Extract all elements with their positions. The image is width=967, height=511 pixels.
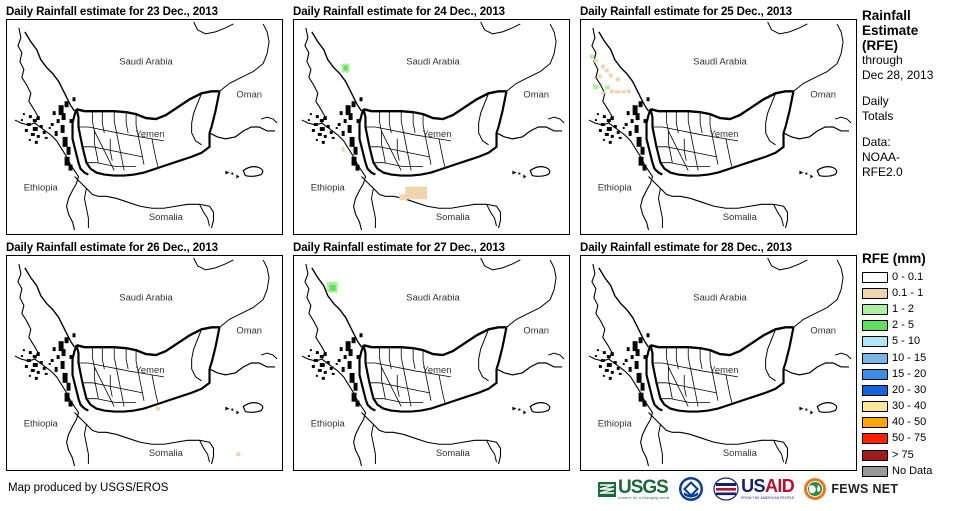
- legend: RFE (mm) 0 - 0.10.1 - 11 - 22 - 55 - 101…: [862, 251, 967, 479]
- panel-5: Daily Rainfall estimate for 27 Dec., 201…: [293, 241, 570, 471]
- legend-swatch: [862, 369, 888, 380]
- legend-swatch: [862, 385, 888, 396]
- title-through-date: Dec 28, 2013: [862, 68, 967, 83]
- panel-title: Daily Rainfall estimate for 25 Dec., 201…: [580, 5, 857, 19]
- legend-label: 5 - 10: [892, 336, 920, 347]
- panel-4: Daily Rainfall estimate for 26 Dec., 201…: [6, 241, 283, 471]
- usgs-wordmark: USGS: [618, 479, 669, 496]
- legend-swatch: [862, 401, 888, 412]
- legend-rows: 0 - 0.10.1 - 11 - 22 - 55 - 1010 - 1515 …: [862, 269, 967, 479]
- title-line-3: (RFE): [862, 38, 967, 53]
- legend-row: 0 - 0.1: [862, 269, 967, 285]
- legend-row: 15 - 20: [862, 366, 967, 382]
- legend-swatch: [862, 272, 888, 283]
- logo-strip: USGS science for a changing world USAID …: [597, 474, 907, 504]
- map-title-block: Rainfall Estimate (RFE) through Dec 28, …: [862, 8, 967, 180]
- legend-swatch: [862, 417, 888, 428]
- panel-title: Daily Rainfall estimate for 27 Dec., 201…: [293, 241, 570, 255]
- noaa-logo[interactable]: [678, 476, 704, 502]
- usaid-word-aid: AID: [765, 476, 794, 496]
- legend-label: 50 - 75: [892, 433, 926, 444]
- legend-swatch: [862, 288, 888, 299]
- period-line-1: Daily: [862, 94, 967, 109]
- map-credit: Map produced by USGS/EROS: [8, 482, 168, 494]
- legend-row: 1 - 2: [862, 301, 967, 317]
- legend-swatch: [862, 353, 888, 364]
- legend-row: 5 - 10: [862, 334, 967, 350]
- usgs-mark-icon: [597, 480, 617, 499]
- legend-swatch: [862, 304, 888, 315]
- legend-row: 0.1 - 1: [862, 285, 967, 301]
- usaid-seal-icon: [713, 477, 739, 501]
- title-line-2: Estimate: [862, 23, 967, 38]
- legend-swatch: [862, 433, 888, 444]
- rainfall-overlay-3: [590, 55, 631, 95]
- rainfall-overlay-2: [342, 64, 427, 201]
- usaid-tagline: FROM THE AMERICAN PEOPLE: [741, 496, 794, 500]
- legend-row: 50 - 75: [862, 431, 967, 447]
- map-canvas-1[interactable]: [6, 19, 283, 235]
- fews-net-logo[interactable]: FEWS NET: [803, 477, 898, 501]
- panel-title: Daily Rainfall estimate for 28 Dec., 201…: [580, 241, 857, 255]
- panel-2: Daily Rainfall estimate for 24 Dec., 201…: [293, 5, 570, 235]
- legend-row: > 75: [862, 447, 967, 463]
- legend-swatch: [862, 320, 888, 331]
- legend-row: 40 - 50: [862, 415, 967, 431]
- legend-label: 15 - 20: [892, 369, 926, 380]
- fews-globe-icon: [803, 477, 827, 501]
- data-source-line-1: NOAA-: [862, 150, 967, 165]
- legend-label: 0.1 - 1: [892, 288, 923, 299]
- map-canvas-5[interactable]: [293, 255, 570, 471]
- title-line-1: Rainfall: [862, 8, 967, 23]
- panel-title: Daily Rainfall estimate for 23 Dec., 201…: [6, 5, 283, 19]
- data-source-line-2: RFE2.0: [862, 165, 967, 180]
- legend-row: 30 - 40: [862, 399, 967, 415]
- legend-swatch: [862, 450, 888, 461]
- panel-6: Daily Rainfall estimate for 28 Dec., 201…: [580, 241, 857, 471]
- map-canvas-6[interactable]: [580, 255, 857, 471]
- legend-label: 40 - 50: [892, 417, 926, 428]
- legend-label: 10 - 15: [892, 353, 926, 364]
- legend-label: > 75: [892, 450, 914, 461]
- noaa-seal-icon: [678, 476, 704, 502]
- map-canvas-3[interactable]: [580, 19, 857, 235]
- legend-label: 2 - 5: [892, 320, 914, 331]
- panel-title: Daily Rainfall estimate for 24 Dec., 201…: [293, 5, 570, 19]
- usaid-logo[interactable]: USAID FROM THE AMERICAN PEOPLE: [713, 477, 794, 501]
- legend-label: 30 - 40: [892, 401, 926, 412]
- legend-title: RFE (mm): [862, 251, 967, 266]
- legend-label: 0 - 0.1: [892, 272, 923, 283]
- panel-3: Daily Rainfall estimate for 25 Dec., 201…: [580, 5, 857, 235]
- legend-label: 1 - 2: [892, 304, 914, 315]
- rainfall-overlay-5: [327, 282, 338, 293]
- legend-label: 20 - 30: [892, 385, 926, 396]
- map-canvas-2[interactable]: [293, 19, 570, 235]
- map-canvas-4[interactable]: [6, 255, 283, 471]
- usaid-word-us: US: [741, 476, 765, 496]
- panel-1: Daily Rainfall estimate for 23 Dec., 201…: [6, 5, 283, 235]
- data-source-label: Data:: [862, 135, 967, 150]
- fews-net-wordmark: FEWS NET: [831, 482, 898, 496]
- title-through: through: [862, 53, 967, 68]
- legend-swatch: [862, 336, 888, 347]
- legend-row: 10 - 15: [862, 350, 967, 366]
- legend-row: 20 - 30: [862, 382, 967, 398]
- period-line-2: Totals: [862, 109, 967, 124]
- panel-title: Daily Rainfall estimate for 26 Dec., 201…: [6, 241, 283, 255]
- usgs-logo[interactable]: USGS science for a changing world: [597, 479, 669, 500]
- usgs-tagline: science for a changing world: [618, 496, 669, 500]
- legend-row: 2 - 5: [862, 318, 967, 334]
